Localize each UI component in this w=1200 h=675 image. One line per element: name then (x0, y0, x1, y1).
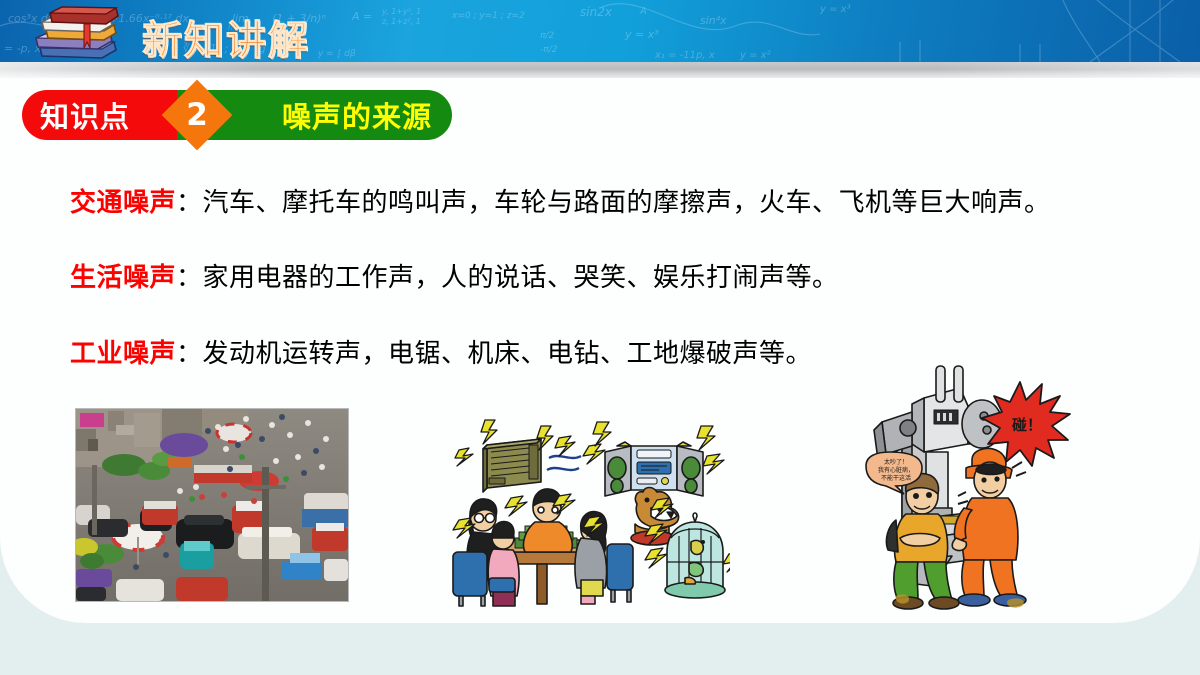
text-line-industrial: 工业噪声：发动机运转声，电锯、机床、电钻、工地爆破声等。 (70, 333, 812, 370)
text-lead-life: 生活噪声 (70, 263, 176, 293)
books-stack-icon (24, 4, 132, 62)
household-noise-cartoon (445, 412, 730, 607)
svg-text:A: A (639, 6, 647, 17)
speech-bubble-line-2: 我有心脏病， (869, 467, 923, 475)
text-rest-life: ：家用电器的工作声，人的说话、哭笑、娱乐打闹声等。 (176, 263, 839, 293)
text-rest-traffic: ：汽车、摩托车的鸣叫声，车轮与路面的摩擦声，火车、飞机等巨大响声。 (176, 188, 1051, 218)
svg-text:sin⁴x: sin⁴x (700, 14, 727, 27)
header-divider-strip (0, 62, 1200, 78)
badge-label-text: 知识点 (40, 94, 130, 136)
svg-text:y = x²: y = x² (739, 50, 771, 61)
svg-text:A =: A = (351, 10, 372, 23)
svg-text:y = x³: y = x³ (624, 28, 659, 41)
speech-bubble-line-1: 太吵了！ (872, 459, 920, 467)
svg-text:z, 1+z², 1: z, 1+z², 1 (381, 17, 421, 26)
busy-street-market-photo (75, 408, 349, 602)
badge-title-text: 噪声的来源 (282, 94, 432, 136)
slide-root: cos³x dx ∮ 3x⁷+1.66x⁻⁰·¹⁷ dx lim h→+∞ (1… (0, 0, 1200, 675)
svg-text:x=0 ; y=1 ; z=2: x=0 ; y=1 ; z=2 (451, 11, 525, 21)
factory-machine-noise-cartoon: 太吵了！ 我有心脏病， 不能干这活 碰！ (860, 360, 1075, 610)
text-lead-traffic: 交通噪声 (70, 188, 176, 218)
badge-number-text: 2 (172, 90, 222, 140)
header-divider-sheen (0, 62, 1200, 78)
text-rest-industrial: ：发动机运转声，电锯、机床、电钻、工地爆破声等。 (176, 339, 812, 369)
svg-text:π/2: π/2 (540, 31, 554, 41)
impact-text: 碰！ (1012, 414, 1042, 435)
svg-text:sin2x: sin2x (580, 5, 613, 19)
svg-text:-π/2: -π/2 (540, 45, 558, 55)
svg-text:y = x³: y = x³ (819, 4, 851, 15)
text-line-life: 生活噪声：家用电器的工作声，人的说话、哭笑、娱乐打闹声等。 (70, 257, 839, 294)
slide-header: cos³x dx ∮ 3x⁷+1.66x⁻⁰·¹⁷ dx lim h→+∞ (1… (0, 0, 1200, 62)
svg-text:y = ∫ dβ: y = ∫ dβ (317, 49, 356, 59)
page-title: 新知讲解 (142, 8, 310, 62)
svg-text:y, 1+y², 1: y, 1+y², 1 (381, 7, 421, 16)
speech-bubble-line-3: 不能干这活 (869, 475, 923, 483)
svg-text:x₁ = -11p, x: x₁ = -11p, x (654, 50, 715, 61)
text-lead-industrial: 工业噪声 (70, 339, 176, 369)
text-line-traffic: 交通噪声：汽车、摩托车的鸣叫声，车轮与路面的摩擦声，火车、飞机等巨大响声。 (70, 182, 1051, 219)
